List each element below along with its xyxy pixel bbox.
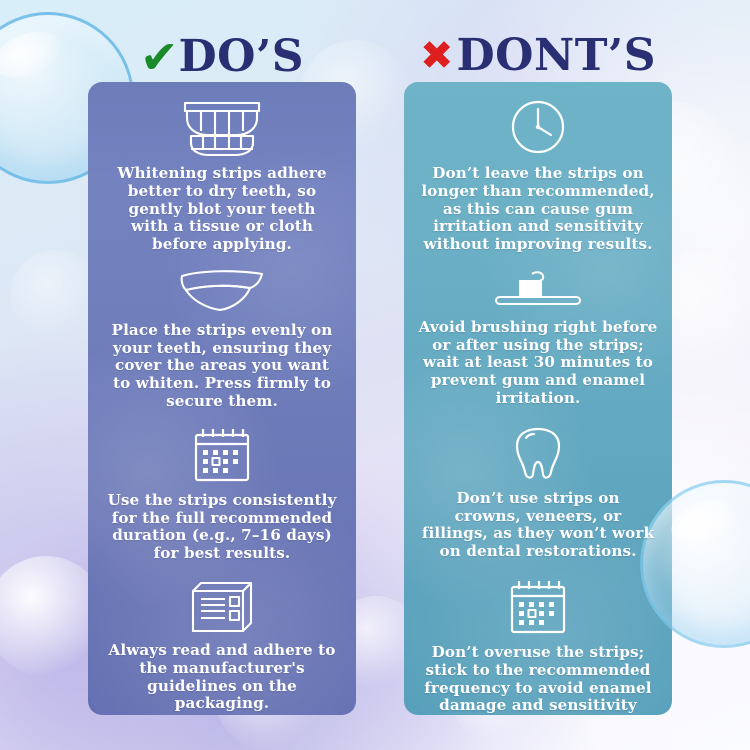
donts-card: Don’t leave the strips on longer than re… (404, 82, 672, 715)
tooth-icon (511, 424, 565, 482)
dos-item-4-text: Always read and adhere to the manufactur… (108, 642, 336, 713)
dos-item-1-text: Whitening strips adhere better to dry te… (109, 165, 335, 254)
dos-card: Whitening strips adhere better to dry te… (88, 82, 356, 715)
donts-item-1-text: Don’t leave the strips on longer than re… (420, 165, 656, 254)
donts-item-2-text: Avoid brushing right before or after usi… (418, 319, 658, 408)
toothbrush-icon (490, 270, 586, 312)
donts-item-3: Don’t use strips on crowns, veneers, or … (416, 408, 660, 561)
teeth-dentures-icon (177, 98, 267, 158)
package-box-icon (189, 579, 255, 635)
calendar-icon (191, 426, 253, 484)
donts-item-4: Don’t overuse the strips; stick to the r… (416, 561, 660, 715)
dos-item-4: Always read and adhere to the manufactur… (100, 563, 344, 713)
clock-icon (509, 98, 567, 156)
check-mark-icon: ✔ (140, 34, 179, 80)
dos-item-1: Whitening strips adhere better to dry te… (100, 92, 344, 254)
donts-item-3-text: Don’t use strips on crowns, veneers, or … (421, 490, 655, 561)
whitening-strip-icon (176, 268, 268, 314)
dos-header: ✔ DO’S (88, 30, 356, 84)
dos-item-2: Place the strips evenly on your teeth, e… (100, 254, 344, 411)
donts-title: DONT’S (456, 34, 656, 78)
dos-title: DO’S (178, 35, 304, 79)
donts-item-4-text: Don’t overuse the strips; stick to the r… (418, 644, 658, 715)
dos-item-3-text: Use the strips consistently for the full… (105, 492, 339, 563)
dos-item-2-text: Place the strips evenly on your teeth, e… (106, 322, 338, 411)
donts-item-1: Don’t leave the strips on longer than re… (416, 92, 660, 254)
calendar-icon (507, 578, 569, 636)
cross-mark-icon: ✖ (420, 36, 454, 76)
infographic-canvas: ✔ DO’S ✖ DONT’S Whitening strips adhere … (0, 0, 750, 750)
donts-header: ✖ DONT’S (404, 28, 672, 84)
dos-item-3: Use the strips consistently for the full… (100, 411, 344, 563)
donts-item-2: Avoid brushing right before or after usi… (416, 254, 660, 408)
